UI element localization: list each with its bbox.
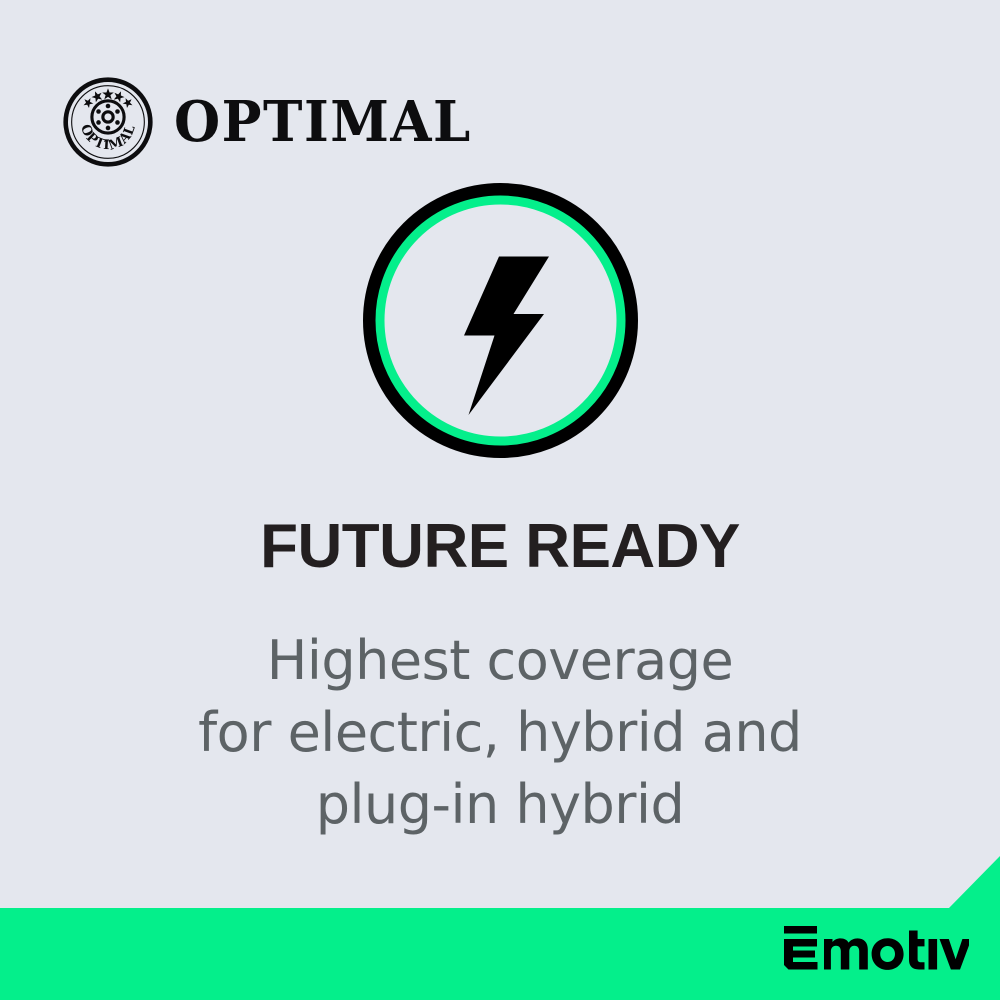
footer-corner-wedge [948,856,1000,909]
subtitle-line-1: Highest coverage [0,625,1000,697]
optimal-seal-icon: OPTIMAL [62,76,154,168]
page-title: FUTURE READY [0,516,1000,578]
lightning-bolt-in-circle-icon [363,183,638,458]
brand-lockup: OPTIMAL OPTIMAL [62,62,472,182]
promo-card: OPTIMAL OPTIMAL [0,0,1000,1000]
subtitle: Highest coverage for electric, hybrid an… [0,625,1000,841]
copy-block: FUTURE READY Highest coverage for electr… [0,516,1000,841]
emotive-wordmark-icon [781,926,969,972]
subtitle-line-2: for electric, hybrid and [0,697,1000,769]
subtitle-line-3: plug-in hybrid [0,769,1000,841]
brand-wordmark: OPTIMAL [174,94,472,150]
